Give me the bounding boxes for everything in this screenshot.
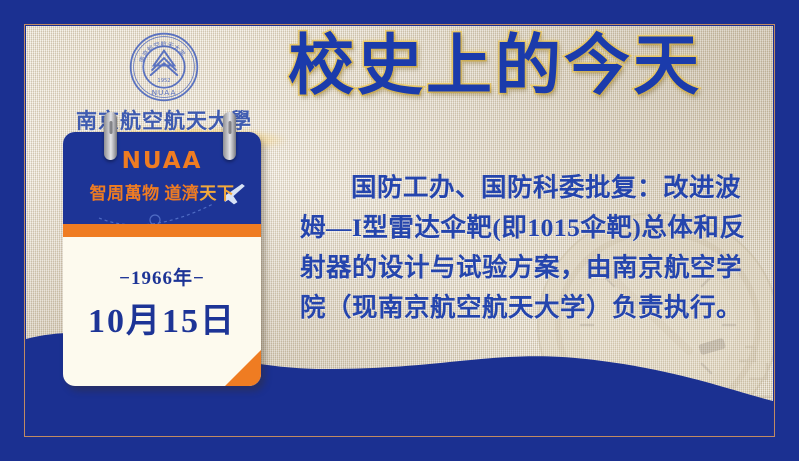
poster-root: 1952 NUAA 南京航空航天大学 南京航空航天大學 NANJING UNIV…	[0, 0, 799, 461]
svg-text:NUAA: NUAA	[152, 88, 177, 97]
event-description: 国防工办、国防科委批复：改进波姆—I型雷达伞靶(即1015伞靶)总体和反射器的设…	[300, 168, 755, 328]
binder-clip-right	[223, 112, 236, 160]
university-motto: 智周萬物 道濟天下	[63, 179, 261, 204]
calendar-year: −1966年−	[63, 263, 261, 290]
nuaa-emblem-icon: 1952 NUAA 南京航空航天大学	[127, 30, 201, 104]
calendar-date: 10月15日	[63, 293, 261, 342]
calendar-card: NUAA 智周萬物 道濟天下 −1966年− 10月15日	[63, 132, 261, 386]
motto-part-3: 天下	[199, 184, 234, 203]
motto-part-1: 智周萬物	[90, 184, 160, 203]
motto-part-2: 道濟	[164, 184, 199, 203]
binder-clip-left	[104, 112, 117, 160]
calendar-card-body: −1966年− 10月15日	[63, 237, 261, 386]
svg-text:1952: 1952	[157, 78, 170, 84]
calendar-orange-stripe	[63, 224, 261, 237]
page-fold-corner	[225, 350, 261, 386]
page-title: 校史上的今天	[288, 34, 702, 100]
